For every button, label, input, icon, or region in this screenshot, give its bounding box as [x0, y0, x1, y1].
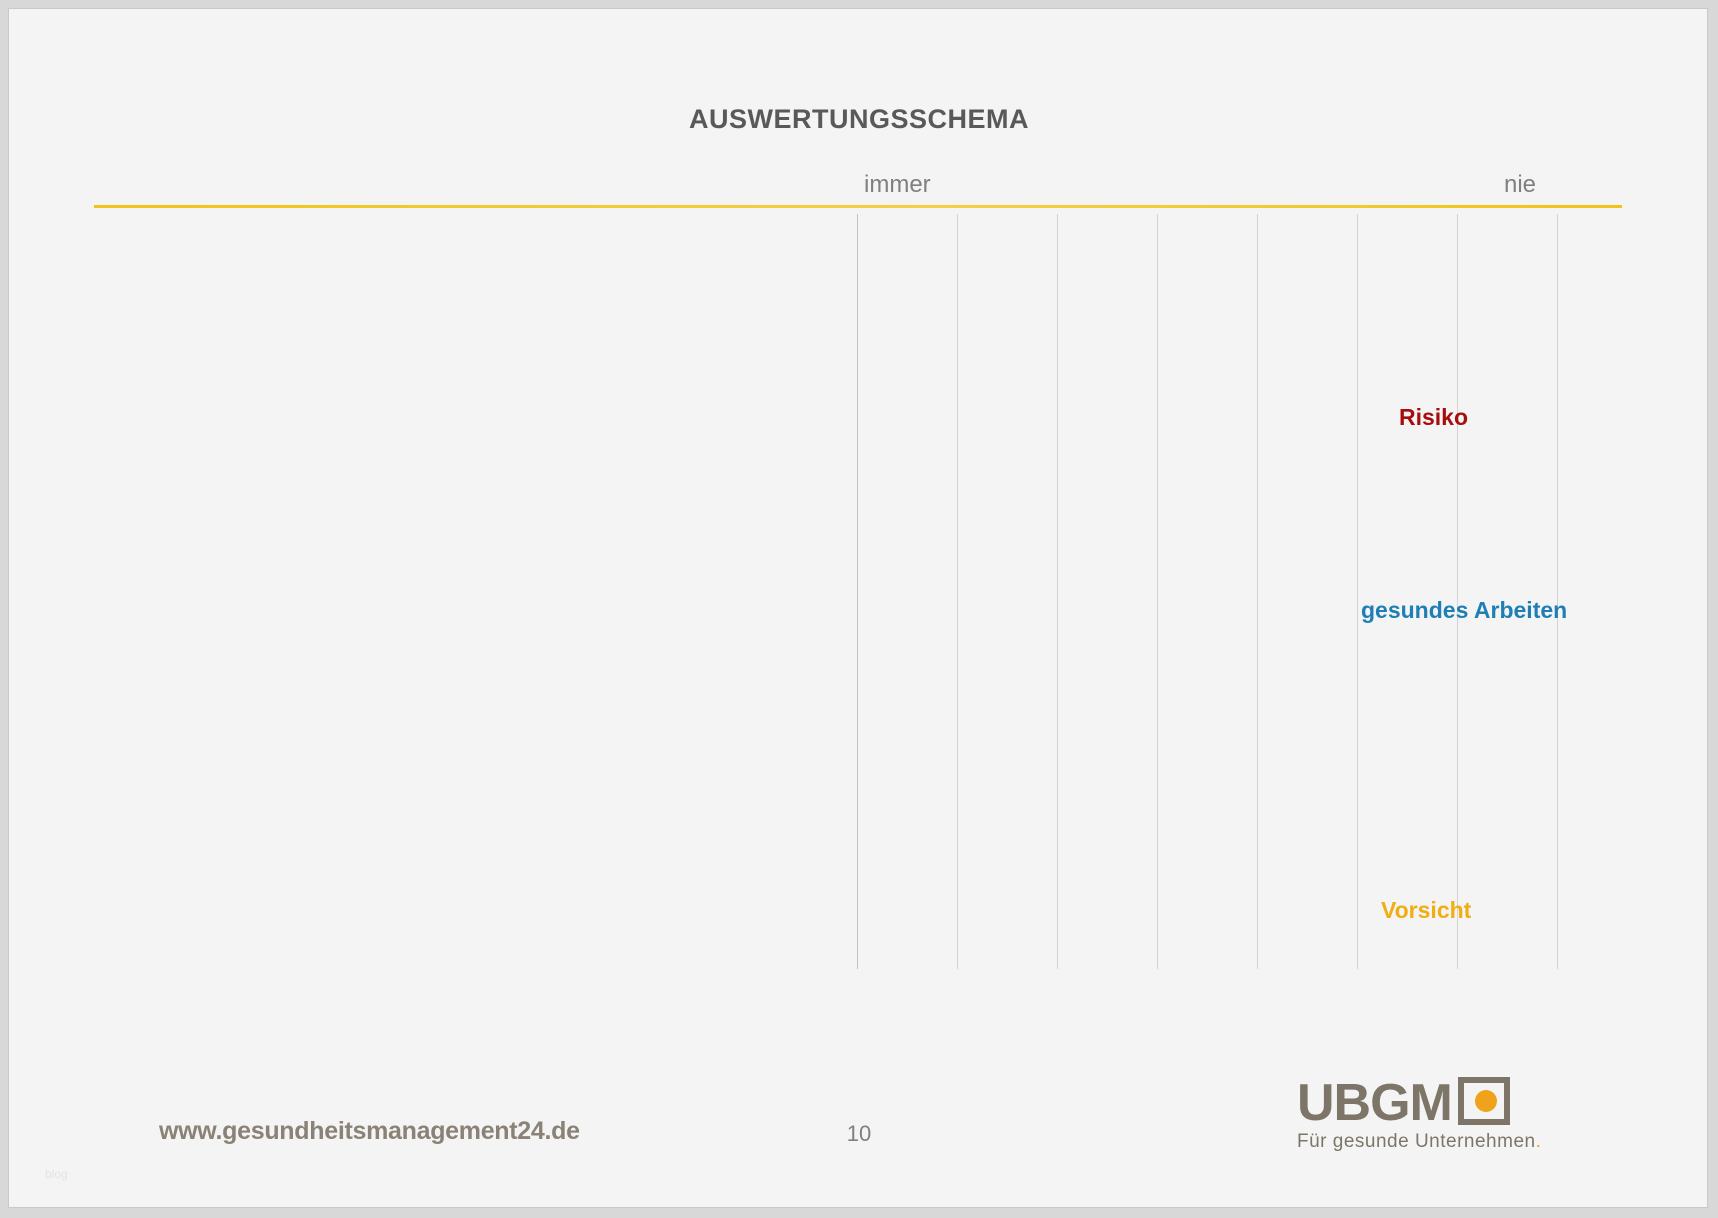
- chart-plot-area: [857, 214, 1557, 969]
- gridline-2: [1257, 214, 1258, 969]
- blog-watermark: blog: [45, 1167, 68, 1181]
- logo-wordmark: UBGM: [1297, 1077, 1452, 1129]
- gridline-1: [1057, 214, 1058, 969]
- gridline-2,5: [1357, 214, 1358, 969]
- gridline-3: [1457, 214, 1458, 969]
- gridline-0: [857, 214, 858, 969]
- header-rule: [94, 205, 1622, 208]
- gridline-0,5: [957, 214, 958, 969]
- gridline-1,5: [1157, 214, 1158, 969]
- annotation-risiko: Risiko: [1399, 404, 1468, 431]
- logo-bracket-dot-icon: [1458, 1077, 1510, 1125]
- scale-label-right: nie: [1504, 171, 1536, 199]
- annotation-gesundes-arbeiten: gesundes Arbeiten: [1361, 597, 1567, 624]
- slide-canvas: AUSWERTUNGSSCHEMA immer nie Risiko gesun…: [8, 8, 1708, 1208]
- scale-label-left: immer: [864, 171, 931, 199]
- logo-tagline: Für gesunde Unternehmen.: [1297, 1131, 1541, 1153]
- logo-tagline-text: Für gesunde Unternehmen: [1297, 1131, 1536, 1152]
- page-title: AUSWERTUNGSSCHEMA: [9, 104, 1708, 135]
- logo-tagline-dot: .: [1536, 1131, 1542, 1152]
- ubgm-logo: UBGM Für gesunde Unternehmen.: [1297, 1077, 1541, 1153]
- gridline-3,5: [1557, 214, 1558, 969]
- annotation-vorsicht: Vorsicht: [1381, 897, 1471, 924]
